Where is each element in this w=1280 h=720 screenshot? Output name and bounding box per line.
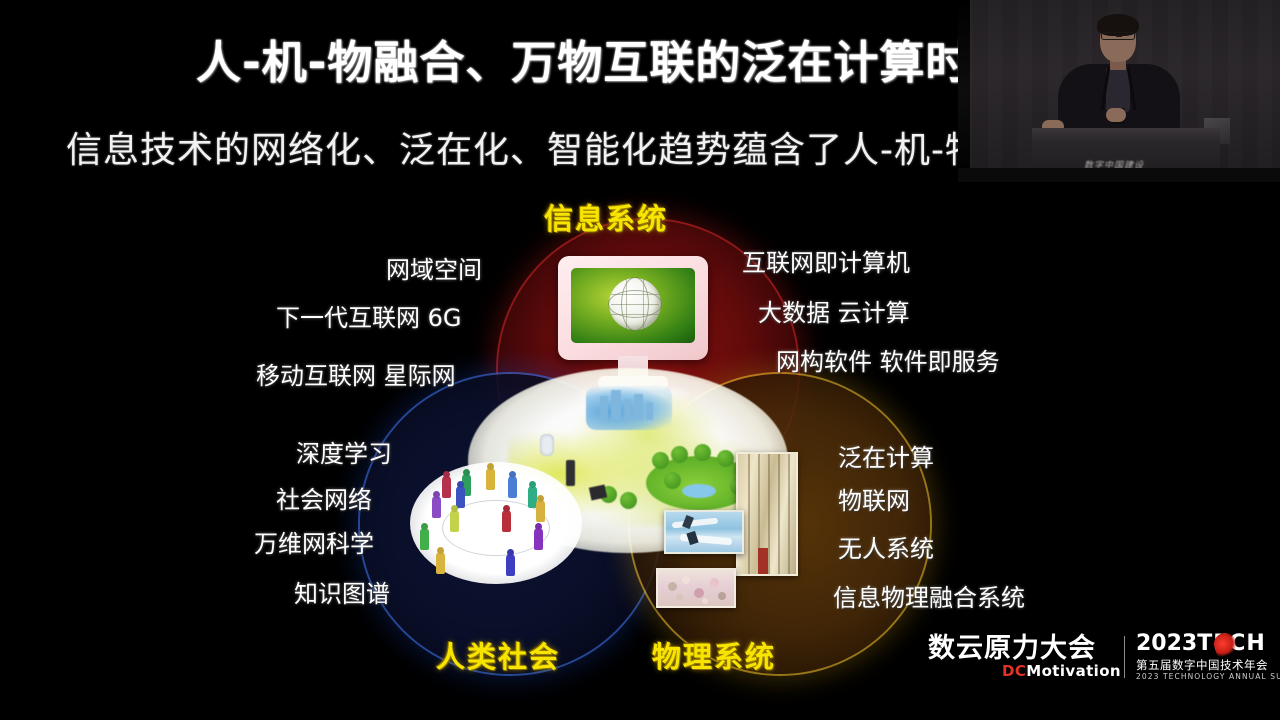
keyword-left-5: 社会网络 bbox=[276, 480, 372, 515]
video-left-edge bbox=[958, 0, 970, 182]
video-bottom-bar bbox=[958, 168, 1280, 182]
logo-english-name: DCMotivation bbox=[1002, 662, 1121, 680]
keyword-right-6: 无人系统 bbox=[838, 529, 934, 564]
keyword-left-1: 网域空间 bbox=[386, 250, 482, 285]
page-subtitle: 信息技术的网络化、泛在化、智能化趋势蕴含了人-机-物 bbox=[66, 126, 1006, 176]
keyword-right-3: 网构软件 软件即服务 bbox=[776, 342, 1000, 377]
logo-divider bbox=[1124, 636, 1125, 678]
logo-chinese-name: 数云原力大会 bbox=[928, 634, 1096, 664]
skyscraper-photo bbox=[736, 452, 798, 576]
summit-title-cn: 第五届数字中国技术年会 bbox=[1136, 657, 1268, 673]
speaker-shirt bbox=[1106, 66, 1130, 112]
label-human-society: 人类社会 bbox=[436, 634, 560, 676]
keyword-left-2: 下一代互联网 6G bbox=[276, 298, 462, 333]
keyword-right-1: 互联网即计算机 bbox=[742, 243, 910, 278]
label-physical-system: 物理系统 bbox=[652, 634, 776, 676]
keyword-right-7: 信息物理融合系统 bbox=[833, 578, 1025, 613]
summit-year-tech: 2023TECH bbox=[1136, 632, 1266, 656]
summit-logo: 2023TECH 第五届数字中国技术年会 2023 TECHNOLOGY ANN… bbox=[1136, 632, 1270, 686]
page-title: 人-机-物融合、万物互联的泛在计算时代 bbox=[196, 32, 996, 94]
podium-text: 数字中国建设 bbox=[1084, 158, 1170, 168]
logo-dc-text: DC bbox=[1002, 662, 1026, 680]
keyword-right-4: 泛在计算 bbox=[838, 438, 934, 473]
people-network-icon bbox=[410, 462, 582, 584]
keyword-right-5: 物联网 bbox=[838, 481, 910, 516]
keyword-left-3: 移动互联网 星际网 bbox=[256, 356, 456, 391]
keyword-right-2: 大数据 云计算 bbox=[758, 293, 910, 328]
conference-logo: 数云原力大会 DCMotivation bbox=[928, 632, 1168, 688]
summit-title-en: 2023 TECHNOLOGY ANNUAL SUMMIT bbox=[1136, 672, 1280, 681]
glasses-icon bbox=[1101, 32, 1135, 40]
pond bbox=[682, 484, 716, 498]
airplane-photo bbox=[664, 510, 744, 554]
speaker-hand-right bbox=[1106, 108, 1126, 122]
globe-icon bbox=[609, 278, 661, 330]
keyword-left-7: 知识图谱 bbox=[294, 574, 390, 609]
city-cluster-icon bbox=[586, 386, 672, 430]
device-icon bbox=[566, 460, 575, 486]
keyword-left-6: 万维网科学 bbox=[254, 524, 374, 559]
logo-motivation-text: Motivation bbox=[1026, 662, 1121, 680]
monitor-body bbox=[558, 256, 708, 360]
speaker-camera-feed[interactable]: 数字中国建设 bbox=[958, 0, 1280, 182]
summit-year: 2023 bbox=[1136, 631, 1197, 656]
monitor-screen bbox=[571, 268, 695, 343]
label-information-system: 信息系统 bbox=[544, 196, 668, 238]
mobile-phone-icon bbox=[540, 434, 554, 456]
keyword-left-4: 深度学习 bbox=[296, 434, 392, 469]
slide-stage: 人-机-物融合、万物互联的泛在计算时代 信息技术的网络化、泛在化、智能化趋势蕴含… bbox=[0, 0, 1280, 720]
molecule-photo bbox=[656, 568, 736, 608]
